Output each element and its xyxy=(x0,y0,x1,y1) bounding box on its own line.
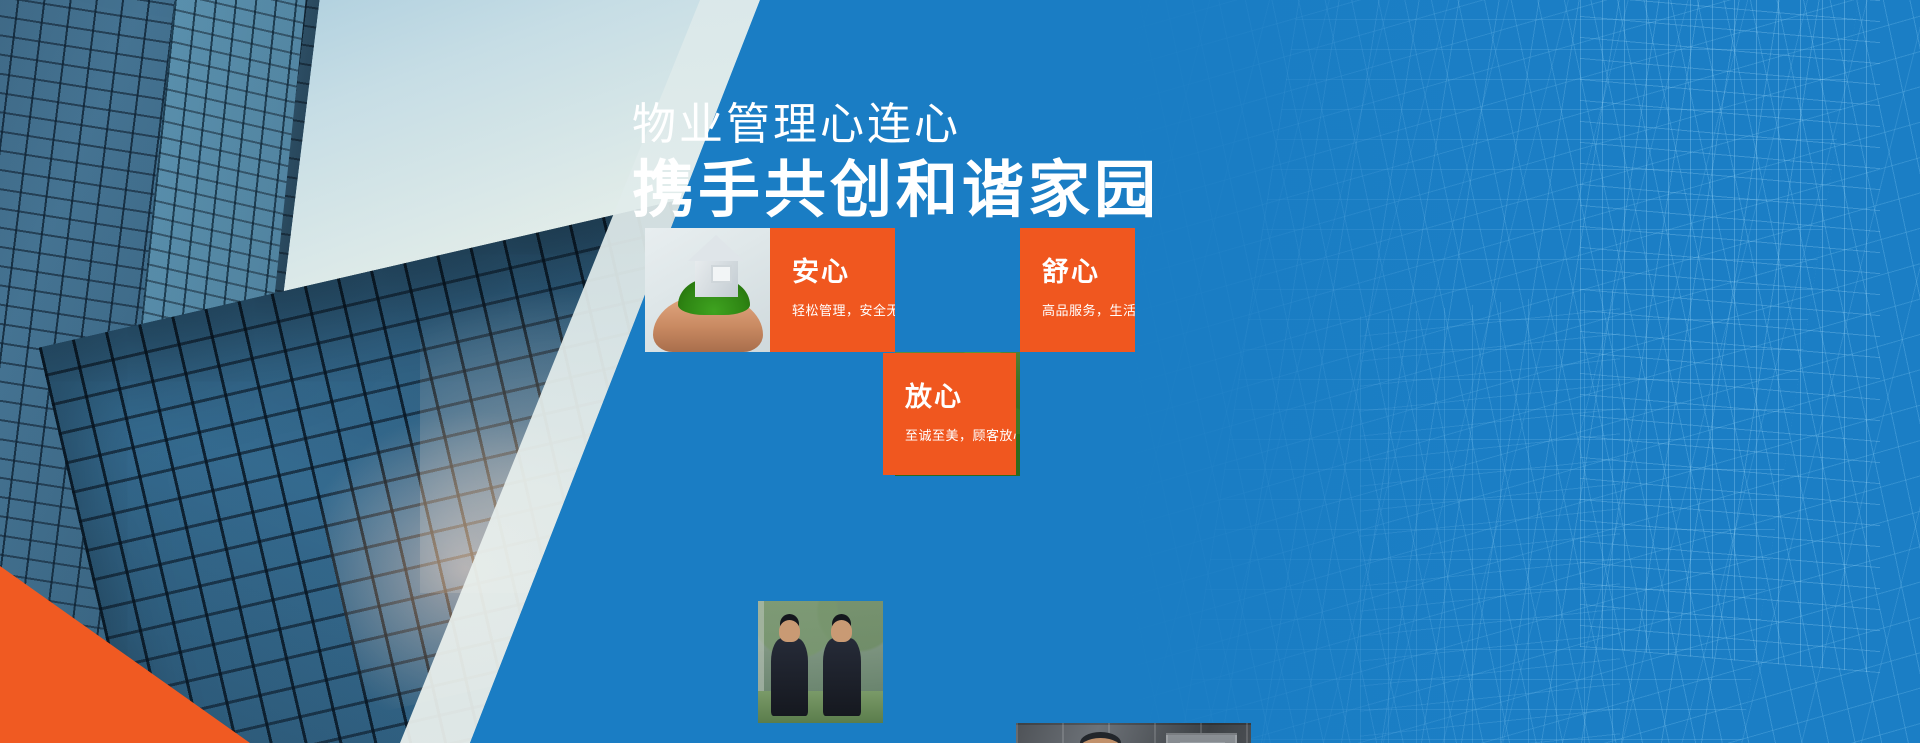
tile-title-shuxin: 舒心 xyxy=(1042,258,1135,288)
electrical-cabinet-shape xyxy=(1166,733,1237,743)
tile-subtitle-anxin: 轻松管理，安全无忧 xyxy=(792,300,895,319)
headline-block: 物业管理心连心 携手共创和谐家园 xyxy=(632,100,1332,225)
hands-holding-house-photo xyxy=(645,228,770,352)
headline-line-2: 携手共创和谐家园 xyxy=(632,157,1332,225)
electrical-technician-photo xyxy=(1016,723,1251,743)
tile-title-fangxin: 放心 xyxy=(905,383,1016,413)
headline-line-1: 物业管理心连心 xyxy=(632,100,1332,151)
tile-title-anxin: 安心 xyxy=(792,258,895,288)
feature-tile-grid: 安心 轻松管理，安全无忧 舒心 高品服务，生活好管家 放心 至诚至美，顾客放心 xyxy=(645,228,1251,475)
tile-subtitle-shuxin: 高品服务，生活好管家 xyxy=(1042,300,1135,319)
guard-figure-right xyxy=(823,638,861,716)
house-model-shape xyxy=(695,255,738,297)
feature-tile-anxin[interactable]: 安心 轻松管理，安全无忧 xyxy=(770,228,895,352)
tile-subtitle-fangxin: 至诚至美，顾客放心 xyxy=(905,425,1016,444)
security-guards-photo xyxy=(758,601,883,723)
guard-figure-left xyxy=(771,638,809,716)
feature-tile-fangxin[interactable]: 放心 至诚至美，顾客放心 xyxy=(883,353,1016,475)
promo-banner: 物业管理心连心 携手共创和谐家园 安心 轻松管理，安全无忧 舒心 高品服务，生活… xyxy=(0,0,1920,743)
feature-tile-shuxin[interactable]: 舒心 高品服务，生活好管家 xyxy=(1020,228,1135,352)
